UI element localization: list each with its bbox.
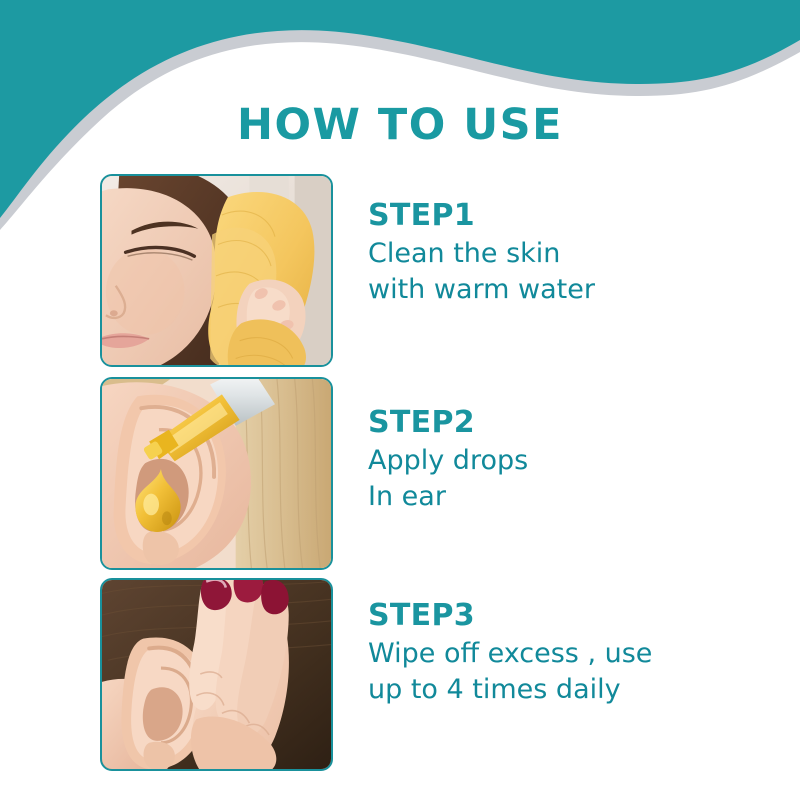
step-3-text: STEP3 Wipe off excess , use up to 4 time… bbox=[368, 600, 740, 708]
step-1-line-1: Clean the skin bbox=[368, 236, 740, 272]
how-to-use-infographic: HOW TO USE bbox=[0, 0, 800, 800]
step-2-photo bbox=[102, 379, 331, 568]
list-item: STEP1 Clean the skin with warm water bbox=[100, 174, 740, 370]
step-3-line-2: up to 4 times daily bbox=[368, 672, 740, 708]
step-2-line-1: Apply drops bbox=[368, 443, 740, 479]
step-2-text: STEP2 Apply drops In ear bbox=[368, 407, 740, 515]
hand-behind-ear-illustration bbox=[102, 580, 331, 769]
step-3-photo bbox=[102, 580, 331, 769]
step-2-photo-frame bbox=[100, 377, 333, 570]
step-3-line-1: Wipe off excess , use bbox=[368, 636, 740, 672]
step-1-photo bbox=[102, 176, 331, 365]
step-1-description: Clean the skin with warm water bbox=[368, 236, 740, 309]
list-item: STEP2 Apply drops In ear bbox=[100, 377, 740, 573]
steps-list: STEP1 Clean the skin with warm water bbox=[0, 0, 800, 800]
step-3-heading: STEP3 bbox=[368, 600, 740, 632]
step-1-text: STEP1 Clean the skin with warm water bbox=[368, 200, 740, 308]
step-1-photo-frame bbox=[100, 174, 333, 367]
step-2-heading: STEP2 bbox=[368, 407, 740, 439]
woman-towel-illustration bbox=[102, 176, 331, 365]
step-2-line-2: In ear bbox=[368, 479, 740, 515]
list-item: STEP3 Wipe off excess , use up to 4 time… bbox=[100, 578, 740, 774]
step-2-description: Apply drops In ear bbox=[368, 443, 740, 516]
step-3-photo-frame bbox=[100, 578, 333, 771]
ear-drops-illustration bbox=[102, 379, 331, 568]
step-3-description: Wipe off excess , use up to 4 times dail… bbox=[368, 636, 740, 709]
step-1-line-2: with warm water bbox=[368, 272, 740, 308]
step-1-heading: STEP1 bbox=[368, 200, 740, 232]
